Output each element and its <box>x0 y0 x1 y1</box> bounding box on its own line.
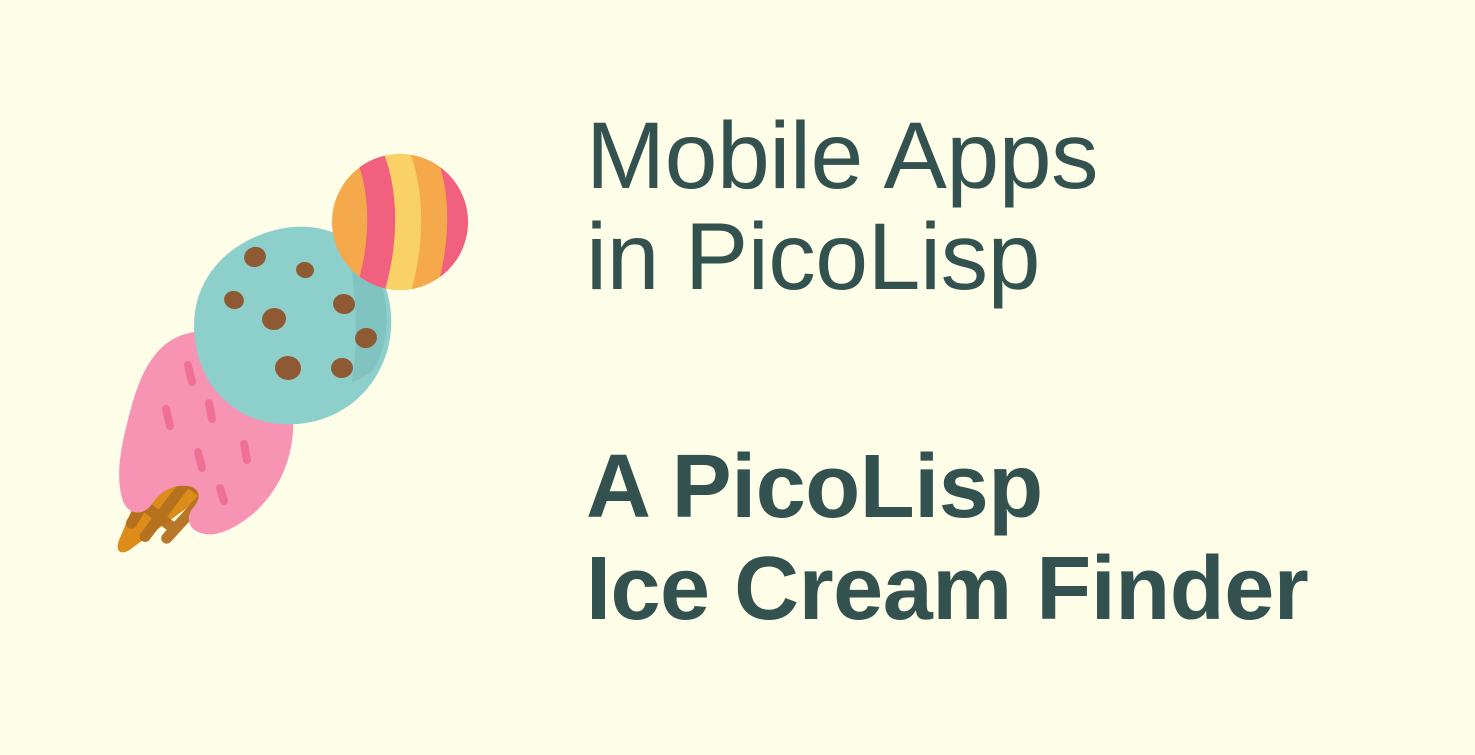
page-subtitle: A PicoLisp Ice Cream Finder <box>586 436 1446 640</box>
subtitle-line-2: Ice Cream Finder <box>586 538 1446 640</box>
subtitle-line-1: A PicoLisp <box>586 436 1446 538</box>
title-line-1: Mobile Apps <box>586 106 1446 207</box>
ice-cream-cone-illustration <box>60 120 520 590</box>
slide-canvas: Mobile Apps in PicoLisp A PicoLisp Ice C… <box>0 0 1475 755</box>
title-line-2: in PicoLisp <box>586 207 1446 308</box>
scoop-stripes <box>352 142 496 302</box>
page-title: Mobile Apps in PicoLisp <box>586 106 1446 308</box>
stripe-orange-3 <box>474 164 496 278</box>
text-block: Mobile Apps in PicoLisp A PicoLisp Ice C… <box>586 106 1446 640</box>
